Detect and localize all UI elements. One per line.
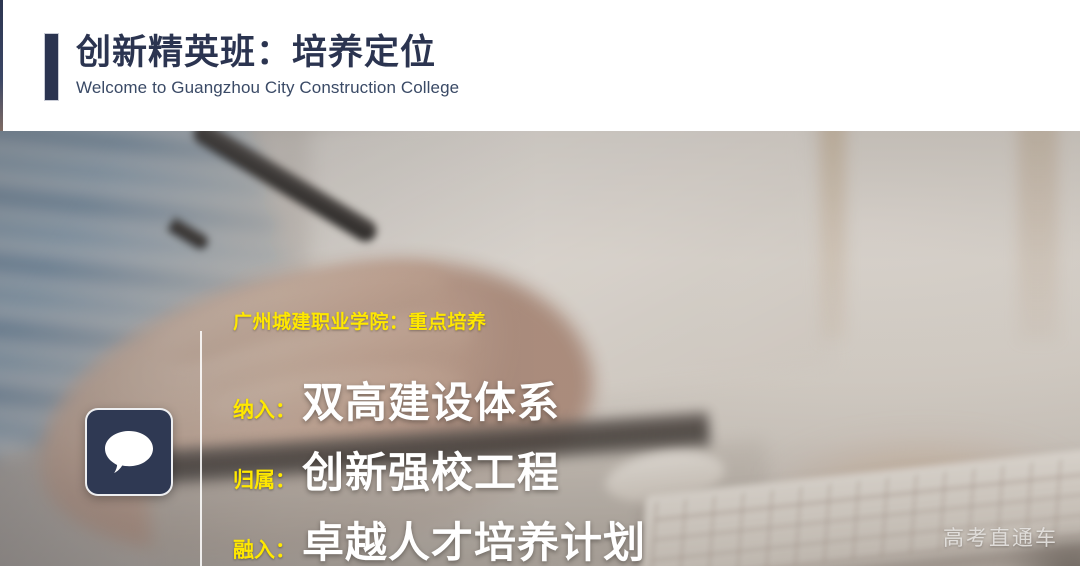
bullet-prefix: 归属： [233,464,296,494]
bullet-row-3: 融入： 卓越人才培养计划 [233,509,646,566]
photo-stage: 广州城建职业学院：重点培养 纳入： 双高建设体系 归属： 创新强校工程 融入： … [0,131,1080,566]
watermark: 高考直通车 [943,522,1058,552]
bullet-prefix: 纳入： [233,394,296,424]
page-left-edge-rule [0,0,3,131]
bullet-prefix: 融入： [233,534,296,564]
vertical-divider [200,331,202,566]
title-block: 创新精英班：培养定位 Welcome to Guangzhou City Con… [76,30,459,100]
bullet-value: 创新强校工程 [302,439,560,500]
bullet-row-2: 归属： 创新强校工程 [233,439,560,500]
speech-bubble-icon [85,408,173,496]
page-subtitle: Welcome to Guangzhou City Construction C… [76,76,459,100]
bullet-row-1: 纳入： 双高建设体系 [233,369,560,430]
bullet-value: 卓越人才培养计划 [302,509,646,566]
page-title: 创新精英班：培养定位 [76,30,459,76]
title-accent-bar [44,33,59,101]
slide-root: 创新精英班：培养定位 Welcome to Guangzhou City Con… [0,0,1080,566]
slide-content: 广州城建职业学院：重点培养 纳入： 双高建设体系 归属： 创新强校工程 融入： … [0,131,1080,566]
bullet-value: 双高建设体系 [302,369,560,430]
slide-header: 创新精英班：培养定位 Welcome to Guangzhou City Con… [0,0,1080,131]
eyebrow-label: 广州城建职业学院：重点培养 [233,307,487,334]
